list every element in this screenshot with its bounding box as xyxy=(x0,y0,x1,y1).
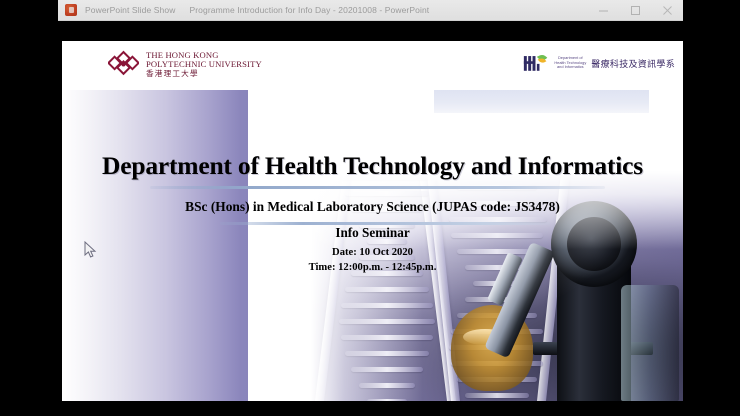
hti-monogram-icon xyxy=(523,51,549,75)
slide-subtitle: BSc (Hons) in Medical Laboratory Science… xyxy=(62,199,683,215)
seminar-time: Time: 12:00p.m. - 12:45p.m. xyxy=(62,262,683,273)
polyu-logo-text: THE HONG KONG POLYTECHNIC UNIVERSITY 香港理… xyxy=(146,51,262,78)
seminar-date: Date: 10 Oct 2020 xyxy=(62,247,683,258)
seminar-heading: Info Seminar xyxy=(62,225,683,241)
mouse-cursor-arrow xyxy=(84,241,97,259)
window-titlebar[interactable]: PowerPoint Slide Show Programme Introduc… xyxy=(58,0,683,21)
window-controls xyxy=(587,0,683,21)
polyu-line3-chinese: 香港理工大學 xyxy=(146,70,262,78)
slideshow-mode-label: PowerPoint Slide Show xyxy=(85,5,175,15)
powerpoint-icon xyxy=(65,4,77,16)
polyu-line2: POLYTECHNIC UNIVERSITY xyxy=(146,60,262,69)
title-accent-rule xyxy=(150,186,605,189)
maximize-icon[interactable] xyxy=(619,0,651,21)
blue-header-band xyxy=(434,90,649,113)
close-icon[interactable] xyxy=(651,0,683,21)
slide-title: Department of Health Technology and Info… xyxy=(62,151,683,181)
polyu-emblem-icon xyxy=(108,49,139,80)
screen-root: PowerPoint Slide Show Programme Introduc… xyxy=(0,0,740,416)
department-logo: Department of Health Technology and Info… xyxy=(523,51,675,75)
presentation-slide[interactable]: THE HONG KONG POLYTECHNIC UNIVERSITY 香港理… xyxy=(62,41,683,401)
window-title: Programme Introduction for Info Day - 20… xyxy=(189,5,429,15)
polyu-logo: THE HONG KONG POLYTECHNIC UNIVERSITY 香港理… xyxy=(108,49,262,80)
minimize-icon[interactable] xyxy=(587,0,619,21)
hti-english-text: Department of Health Technology and Info… xyxy=(554,56,586,71)
hti-en-line3: and Informatics xyxy=(554,65,586,70)
hti-chinese-text: 醫療科技及資訊學系 xyxy=(591,57,675,70)
